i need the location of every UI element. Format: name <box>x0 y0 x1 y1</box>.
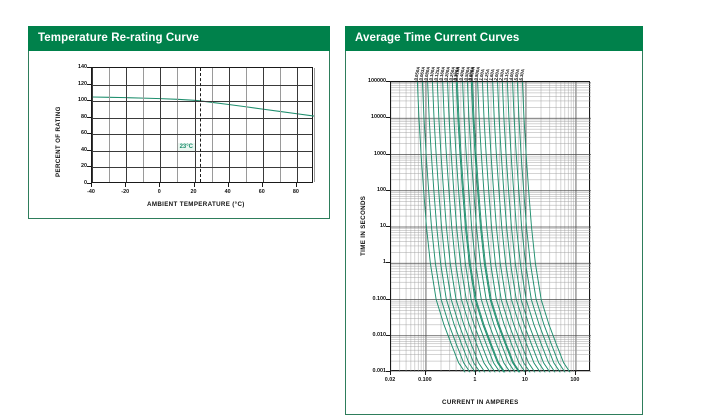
y-tick-label: 0.100 <box>348 296 386 302</box>
y-tick-label: 0 <box>69 180 87 186</box>
x-tick-mark <box>262 183 263 187</box>
y-tick-mark <box>386 335 390 336</box>
y-tick-mark <box>386 262 390 263</box>
annotation-23c: 23°C <box>178 143 195 151</box>
y-tick-label: 140 <box>69 64 87 70</box>
x-tick-label: 0.100 <box>411 377 439 383</box>
y-tick-label: 1000 <box>348 151 386 157</box>
y-tick-mark <box>87 67 91 68</box>
x-axis-title-ambient-temperature: AMBIENT TEMPERATURE (°C) <box>147 201 245 208</box>
y-tick-mark <box>87 117 91 118</box>
gridline-horizontal <box>92 167 312 168</box>
gridline-horizontal <box>92 85 312 86</box>
y-tick-mark <box>386 299 390 300</box>
y-tick-label: 100 <box>348 187 386 193</box>
y-tick-label: 0.010 <box>348 332 386 338</box>
x-tick-mark <box>194 183 195 187</box>
gridline-horizontal <box>92 101 312 102</box>
panel-body-temperature-re-rating: PERCENT OF RATING 23°C 02040608010012014… <box>28 51 330 219</box>
x-tick-mark <box>390 371 391 375</box>
y-tick-label: 10000 <box>348 114 386 120</box>
x-tick-label: 80 <box>286 189 306 195</box>
x-tick-mark <box>475 371 476 375</box>
y-tick-mark <box>386 117 390 118</box>
x-tick-mark <box>125 183 126 187</box>
x-tick-label: 40 <box>218 189 238 195</box>
y-tick-label: 60 <box>69 130 87 136</box>
x-tick-mark <box>91 183 92 187</box>
plot-area-average-time-current-curves <box>390 81 590 371</box>
y-tick-label: 80 <box>69 114 87 120</box>
y-tick-label: 1 <box>348 259 386 265</box>
x-tick-mark <box>425 371 426 375</box>
x-tick-mark <box>525 371 526 375</box>
y-tick-label: 100 <box>69 97 87 103</box>
y-tick-label: 20 <box>69 163 87 169</box>
y-tick-mark <box>87 150 91 151</box>
x-tick-mark <box>296 183 297 187</box>
panel-average-time-current-curves: Average Time Current Curves TIME IN SECO… <box>345 26 643 415</box>
y-tick-mark <box>87 166 91 167</box>
x-axis-title-current-in-amperes: CURRENT IN AMPERES <box>442 399 519 406</box>
reference-line-23c <box>200 68 201 182</box>
y-tick-mark <box>87 100 91 101</box>
gridline-horizontal <box>92 118 312 119</box>
panel-title-average-time-current-curves: Average Time Current Curves <box>345 26 643 51</box>
y-tick-label: 100000 <box>348 78 386 84</box>
y-tick-label: 40 <box>69 147 87 153</box>
panel-temperature-re-rating: Temperature Re-rating Curve PERCENT OF R… <box>28 26 330 219</box>
y-tick-label: 10 <box>348 223 386 229</box>
x-tick-mark <box>228 183 229 187</box>
x-tick-label: 100 <box>561 377 589 383</box>
x-tick-label: 0.02 <box>376 377 404 383</box>
gridline-horizontal <box>92 134 312 135</box>
y-tick-mark <box>386 190 390 191</box>
y-axis-title-percent-of-rating: PERCENT OF RATING <box>55 106 62 177</box>
x-tick-label: 20 <box>184 189 204 195</box>
panel-body-average-time-current-curves: TIME IN SECONDS 0.050A0.063A0.080A0.100A… <box>345 51 643 415</box>
x-tick-label: 0 <box>149 189 169 195</box>
gridline-horizontal <box>92 151 312 152</box>
y-tick-mark <box>87 133 91 134</box>
fuse-time-current-curves <box>391 82 591 372</box>
plot-area-temperature-re-rating: 23°C <box>91 67 313 183</box>
x-tick-label: 10 <box>511 377 539 383</box>
y-tick-mark <box>87 84 91 85</box>
gridline-vertical <box>314 68 315 182</box>
panel-title-temperature-re-rating: Temperature Re-rating Curve <box>28 26 330 51</box>
x-tick-mark <box>575 371 576 375</box>
y-tick-mark <box>386 226 390 227</box>
y-tick-label: 0.001 <box>348 368 386 374</box>
y-tick-mark <box>386 81 390 82</box>
x-tick-mark <box>159 183 160 187</box>
y-tick-label: 120 <box>69 81 87 87</box>
x-tick-label: 1 <box>461 377 489 383</box>
tcc-curve <box>522 82 569 372</box>
x-tick-label: -20 <box>115 189 135 195</box>
x-tick-label: 60 <box>252 189 272 195</box>
y-tick-mark <box>386 154 390 155</box>
x-tick-label: -40 <box>81 189 101 195</box>
